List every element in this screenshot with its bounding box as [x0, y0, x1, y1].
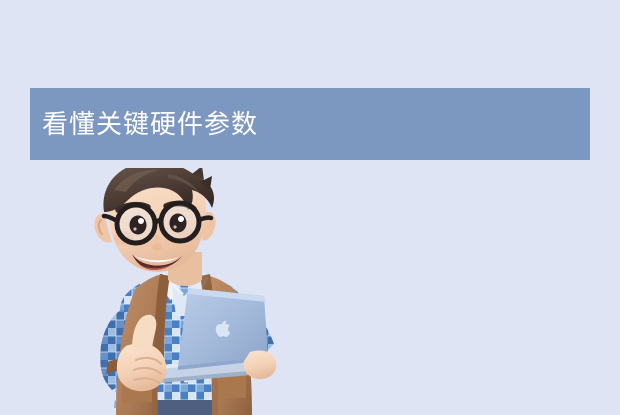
title-banner: 看懂关键硬件参数 — [30, 88, 590, 160]
page-title: 看懂关键硬件参数 — [42, 111, 258, 137]
character-illustration — [60, 168, 320, 415]
poster-canvas: 看懂关键硬件参数 — [0, 0, 620, 415]
supporting-hand — [244, 350, 277, 379]
